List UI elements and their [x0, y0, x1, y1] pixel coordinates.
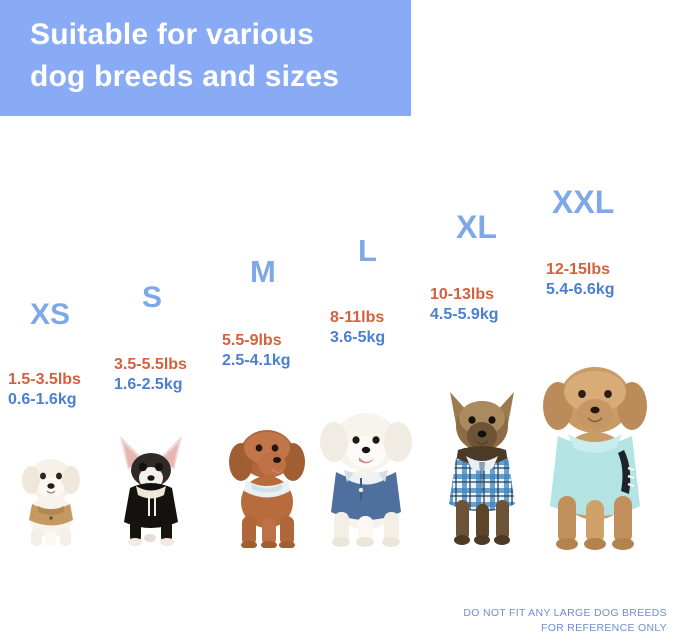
disclaimer: DO NOT FIT ANY LARGE DOG BREEDS FOR REFE…	[463, 606, 667, 636]
size-label-xs: XS	[30, 300, 81, 330]
size-column-l: L 8-11lbs 3.6-5kg	[330, 235, 385, 348]
weight-kg-m: 2.5-4.1kg	[222, 351, 290, 371]
dog-photo-s	[110, 428, 192, 546]
size-label-m: M	[250, 256, 290, 287]
weight-kg-xl: 4.5-5.9kg	[430, 305, 498, 325]
weight-lbs-xl: 10-13lbs	[430, 285, 498, 305]
size-label-xl: XL	[456, 211, 498, 243]
size-column-xxl: XXL 12-15lbs 5.4-6.6kg	[546, 186, 614, 300]
dog-photo-xs	[14, 450, 88, 546]
disclaimer-line-1: DO NOT FIT ANY LARGE DOG BREEDS	[463, 606, 667, 621]
weight-lbs-xxl: 12-15lbs	[546, 260, 614, 280]
size-label-xxl: XXL	[552, 186, 614, 218]
weight-kg-xxl: 5.4-6.6kg	[546, 280, 614, 300]
weight-kg-l: 3.6-5kg	[330, 328, 385, 348]
disclaimer-line-2: FOR REFERENCE ONLY	[463, 621, 667, 636]
size-label-s: S	[142, 283, 187, 313]
dog-size-chart: Suitable for various dog breeds and size…	[0, 0, 679, 642]
weight-group-m: 5.5-9lbs 2.5-4.1kg	[222, 331, 290, 371]
header-banner: Suitable for various dog breeds and size…	[0, 0, 411, 116]
weight-group-l: 8-11lbs 3.6-5kg	[330, 308, 385, 348]
size-column-xl: XL 10-13lbs 4.5-5.9kg	[430, 211, 498, 325]
dog-photo-xxl	[528, 364, 662, 550]
weight-lbs-m: 5.5-9lbs	[222, 331, 290, 351]
dog-photo-l	[314, 408, 418, 548]
size-column-m: M 5.5-9lbs 2.5-4.1kg	[222, 256, 290, 371]
weight-kg-s: 1.6-2.5kg	[114, 375, 187, 395]
weight-group-s: 3.5-5.5lbs 1.6-2.5kg	[114, 355, 187, 395]
weight-lbs-xs: 1.5-3.5lbs	[8, 370, 81, 390]
weight-kg-xs: 0.6-1.6kg	[8, 390, 81, 410]
dog-photo-m	[222, 424, 312, 548]
dog-photo-xl	[432, 388, 532, 548]
banner-line-1: Suitable for various	[30, 14, 411, 56]
weight-lbs-s: 3.5-5.5lbs	[114, 355, 187, 375]
weight-group-xs: 1.5-3.5lbs 0.6-1.6kg	[8, 370, 81, 410]
weight-lbs-l: 8-11lbs	[330, 308, 385, 328]
size-column-s: S 3.5-5.5lbs 1.6-2.5kg	[114, 283, 187, 395]
weight-group-xl: 10-13lbs 4.5-5.9kg	[430, 285, 498, 325]
size-label-l: L	[358, 235, 385, 266]
weight-group-xxl: 12-15lbs 5.4-6.6kg	[546, 260, 614, 300]
size-column-xs: XS 1.5-3.5lbs 0.6-1.6kg	[8, 300, 81, 410]
banner-line-2: dog breeds and sizes	[30, 56, 411, 98]
